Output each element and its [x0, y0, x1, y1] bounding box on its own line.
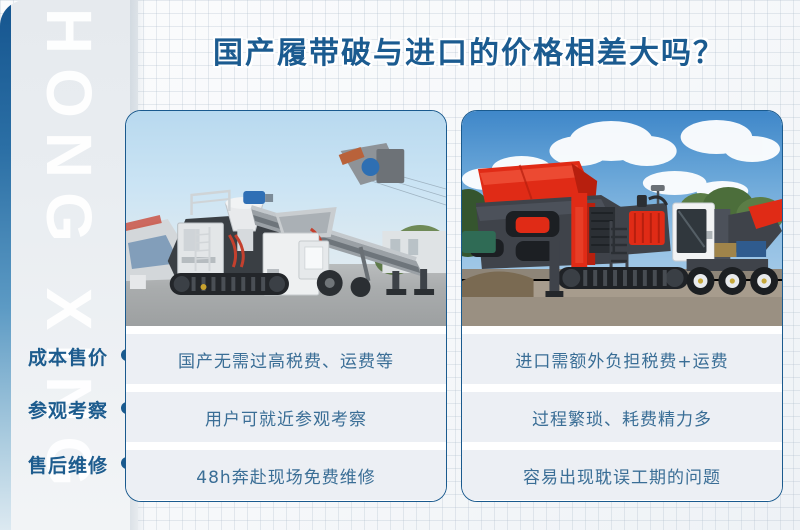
row-spacer	[462, 442, 782, 450]
row-imported-visit: 过程繁琐、耗费精力多	[462, 392, 782, 442]
row-spacer	[462, 500, 782, 502]
row-imported-aftersale: 容易出现耽误工期的问题	[462, 450, 782, 500]
row-domestic-aftersale: 48h奔赴现场免费维修	[126, 450, 446, 500]
card-imported: 进口需额外负担税费+运费 过程繁琐、耗费精力多 容易出现耽误工期的问题	[461, 110, 783, 502]
row-spacer	[462, 384, 782, 392]
page-title: 国产履带破与进口的价格相差大吗？	[138, 28, 800, 72]
rail-label-visit: 参观考察	[28, 396, 108, 423]
row-spacer	[462, 326, 782, 334]
card-domestic: 国产无需过高税费、运费等 用户可就近参观考察 48h奔赴现场免费维修	[125, 110, 447, 502]
row-spacer	[126, 326, 446, 334]
rows-imported: 进口需额外负担税费+运费 过程繁琐、耗费精力多 容易出现耽误工期的问题	[462, 326, 782, 502]
domestic-crusher-illustration	[126, 111, 446, 326]
rail-label-group: 成本售价 参观考察 售后维修	[0, 0, 138, 530]
rail-label-cost: 成本售价	[28, 343, 108, 370]
row-spacer	[126, 442, 446, 450]
imported-crusher-illustration	[462, 111, 782, 326]
card-photo-domestic	[126, 111, 446, 326]
poster-canvas: HONG XING 成本售价 参观考察 售后维修 国产履带破与进口的价格相差大吗…	[0, 0, 800, 530]
row-domestic-visit: 用户可就近参观考察	[126, 392, 446, 442]
rows-domestic: 国产无需过高税费、运费等 用户可就近参观考察 48h奔赴现场免费维修	[126, 326, 446, 502]
row-spacer	[126, 384, 446, 392]
row-imported-cost: 进口需额外负担税费+运费	[462, 334, 782, 384]
card-photo-imported	[462, 111, 782, 326]
row-domestic-cost: 国产无需过高税费、运费等	[126, 334, 446, 384]
row-spacer	[126, 500, 446, 502]
rail-label-aftersale: 售后维修	[28, 451, 108, 478]
